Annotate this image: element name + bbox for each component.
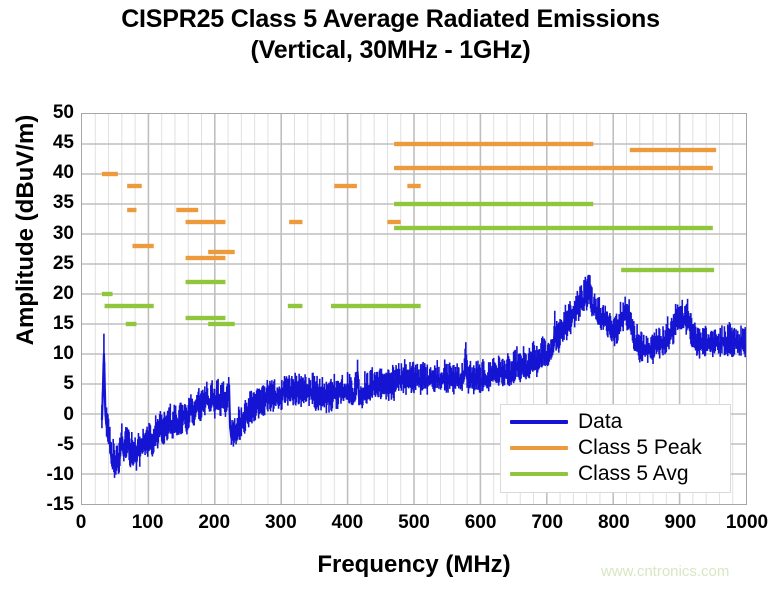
y-tick-label: 0: [30, 404, 74, 426]
legend-swatch-class5-avg: [510, 472, 568, 476]
limit-segment: [186, 316, 226, 320]
y-tick-label: -10: [30, 464, 74, 486]
x-tick-label: 400: [332, 512, 364, 534]
limit-segment: [126, 322, 137, 326]
limit-segment: [186, 280, 226, 284]
limit-segment: [387, 220, 400, 224]
y-tick-label: 40: [30, 162, 74, 184]
x-tick-label: 300: [265, 512, 297, 534]
limit-segment: [127, 184, 142, 188]
limit-segment: [127, 208, 136, 212]
legend-swatch-data: [510, 420, 568, 424]
legend-label-data: Data: [578, 411, 622, 433]
y-tick-label: 25: [30, 253, 74, 275]
x-tick-label: 800: [598, 512, 630, 534]
limit-segment: [176, 208, 198, 212]
y-tick-label: 5: [30, 373, 74, 395]
x-tick-label: 0: [76, 512, 87, 534]
x-tick-label: 100: [132, 512, 164, 534]
y-axis-ticks: -15-10-505101520253035404550: [22, 113, 74, 505]
legend-label-class5-peak: Class 5 Peak: [578, 437, 702, 459]
y-tick-label: -15: [30, 494, 74, 516]
x-tick-label: 1000: [726, 512, 768, 534]
limit-segment: [334, 184, 357, 188]
y-tick-label: 30: [30, 223, 74, 245]
legend-item-class5-peak[interactable]: Class 5 Peak: [501, 435, 730, 461]
limit-segment: [394, 226, 713, 230]
limit-segment: [331, 304, 421, 308]
y-tick-label: 50: [30, 102, 74, 124]
chart-subtitle: (Vertical, 30MHz - 1GHz): [0, 35, 781, 66]
legend-item-class5-avg[interactable]: Class 5 Avg: [501, 461, 730, 487]
chart-container: CISPR25 Class 5 Average Radiated Emissio…: [0, 0, 781, 595]
limit-segment: [407, 184, 420, 188]
y-tick-label: 15: [30, 313, 74, 335]
limit-segment: [102, 172, 118, 176]
limit-segment: [630, 148, 716, 152]
x-tick-label: 600: [465, 512, 497, 534]
limit-segment: [288, 304, 303, 308]
legend-item-data[interactable]: Data: [501, 409, 730, 435]
limit-segment: [208, 250, 235, 254]
y-tick-label: 35: [30, 192, 74, 214]
chart-title-line1: CISPR25 Class 5 Average Radiated Emissio…: [121, 5, 660, 33]
limit-segment: [105, 304, 154, 308]
x-tick-label: 200: [198, 512, 230, 534]
limit-segment: [186, 256, 226, 260]
limit-segment: [208, 322, 235, 326]
limit-segment: [621, 268, 714, 272]
x-tick-label: 500: [398, 512, 430, 534]
y-tick-label: 45: [30, 132, 74, 154]
limit-segment: [394, 202, 593, 206]
limit-segment: [132, 244, 153, 248]
legend-swatch-class5-peak: [510, 446, 568, 450]
limit-segment: [102, 292, 113, 296]
limit-segment: [186, 220, 226, 224]
limit-segment: [394, 142, 593, 146]
y-tick-label: 10: [30, 343, 74, 365]
limit-segment: [394, 166, 713, 170]
chart-legend[interactable]: Data Class 5 Peak Class 5 Avg: [500, 404, 731, 493]
legend-label-class5-avg: Class 5 Avg: [578, 463, 689, 485]
y-tick-label: -5: [30, 434, 74, 456]
x-tick-label: 900: [665, 512, 697, 534]
x-axis-ticks: 01002003004005006007008009001000: [81, 512, 747, 542]
y-tick-label: 20: [30, 283, 74, 305]
chart-title: CISPR25 Class 5 Average Radiated Emissio…: [0, 4, 781, 66]
watermark: www.cntronics.com: [601, 563, 729, 580]
x-tick-label: 700: [531, 512, 563, 534]
limit-segment: [289, 220, 302, 224]
